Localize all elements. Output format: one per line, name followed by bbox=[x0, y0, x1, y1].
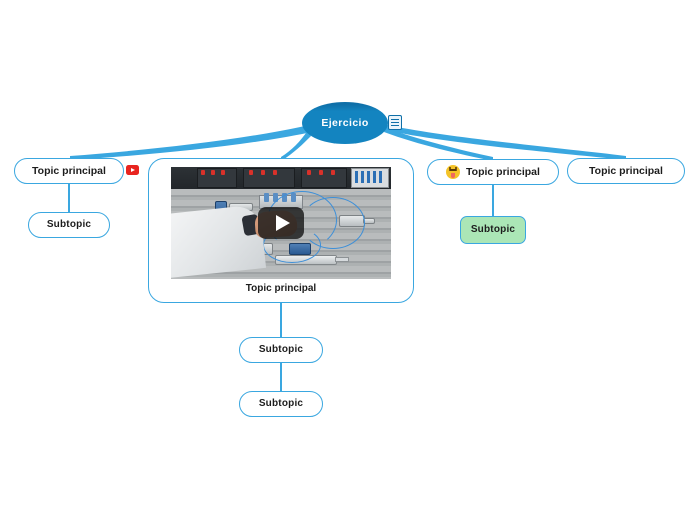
thumbnail-terminal bbox=[361, 171, 364, 183]
subtopic-node-center-2-label: Subtopic bbox=[259, 399, 303, 409]
topic-node-left-label: Topic principal bbox=[32, 166, 106, 177]
connector-root-to-left bbox=[70, 126, 307, 160]
topic-node-emoji-label: Topic principal bbox=[466, 167, 540, 178]
root-node-label: Ejercicio bbox=[321, 118, 368, 129]
thumbnail-led bbox=[331, 170, 335, 175]
topic-node-emoji[interactable]: Topic principal bbox=[427, 159, 559, 185]
topic-node-right[interactable]: Topic principal bbox=[567, 158, 685, 184]
subtopic-node-green[interactable]: Subtopic bbox=[460, 216, 526, 244]
thumbnail-terminal bbox=[373, 171, 376, 183]
thumbnail-led bbox=[261, 170, 265, 175]
topic-node-left[interactable]: Topic principal bbox=[14, 158, 124, 184]
thumbnail-led bbox=[273, 170, 277, 175]
thumbnail-led bbox=[249, 170, 253, 175]
subtopic-node-center-2[interactable]: Subtopic bbox=[239, 391, 323, 417]
thumbnail-terminal bbox=[379, 171, 382, 183]
thumbnail-led bbox=[211, 170, 215, 175]
topic-node-right-label: Topic principal bbox=[589, 166, 663, 177]
thumbnail-terminal bbox=[367, 171, 370, 183]
tongue-emoji-icon-eyes bbox=[449, 167, 458, 169]
note-icon[interactable] bbox=[388, 115, 402, 130]
mindmap-canvas: Ejercicio Topic principal Subtopic bbox=[0, 0, 696, 520]
youtube-icon-triangle bbox=[131, 168, 135, 172]
subtopic-node-left[interactable]: Subtopic bbox=[28, 212, 110, 238]
subtopic-node-center-1[interactable]: Subtopic bbox=[239, 337, 323, 363]
thumbnail-led bbox=[319, 170, 323, 175]
connector-root-to-center bbox=[281, 130, 311, 161]
note-icon-line bbox=[391, 119, 399, 121]
play-icon-triangle bbox=[276, 215, 290, 231]
thumbnail-cylinder-rod bbox=[335, 257, 349, 262]
root-node[interactable]: Ejercicio bbox=[302, 102, 388, 144]
connector-root-to-right bbox=[385, 125, 626, 160]
connector-root-to-emoji bbox=[384, 128, 493, 161]
tongue-emoji-icon bbox=[446, 165, 460, 179]
subtopic-node-center-1-label: Subtopic bbox=[259, 345, 303, 355]
thumbnail-led bbox=[307, 170, 311, 175]
play-icon[interactable] bbox=[258, 207, 304, 239]
subtopic-node-green-label: Subtopic bbox=[471, 225, 515, 235]
video-thumbnail[interactable] bbox=[171, 167, 391, 279]
media-topic-card[interactable]: Topic principal bbox=[148, 158, 414, 303]
thumbnail-led bbox=[201, 170, 205, 175]
media-topic-label: Topic principal bbox=[246, 283, 316, 294]
thumbnail-led bbox=[221, 170, 225, 175]
thumbnail-terminal bbox=[355, 171, 358, 183]
youtube-icon[interactable] bbox=[126, 165, 139, 175]
note-icon-line bbox=[391, 122, 399, 124]
thumbnail-tube bbox=[301, 197, 365, 249]
note-icon-line bbox=[391, 125, 399, 127]
subtopic-node-left-label: Subtopic bbox=[47, 220, 91, 230]
